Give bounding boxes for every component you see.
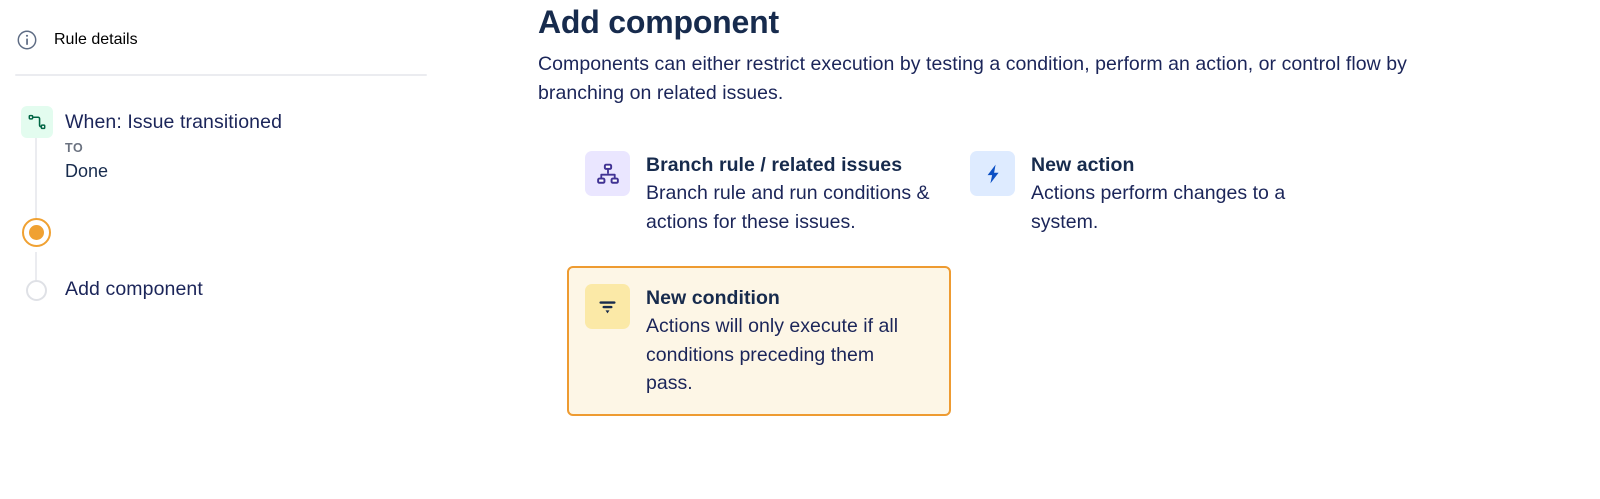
hierarchy-branch-icon-wrap xyxy=(585,151,630,196)
filter-funnel-icon-wrap xyxy=(585,284,630,329)
option-new-condition[interactable]: New condition Actions will only execute … xyxy=(567,266,951,416)
option-description: Actions will only execute if all conditi… xyxy=(646,312,918,398)
add-component-screen: Rule details When: Issue transitioned TO… xyxy=(0,0,1600,499)
selected-step-node-icon[interactable] xyxy=(22,218,51,247)
option-title: Branch rule / related issues xyxy=(646,152,936,178)
panel-description: Components can either restrict execution… xyxy=(538,50,1468,108)
issue-transition-icon xyxy=(26,111,48,133)
trigger-field-value: Done xyxy=(65,158,445,184)
option-description: Branch rule and run conditions & actions… xyxy=(646,179,936,236)
option-new-action-body: New action Actions perform changes to a … xyxy=(1031,151,1321,236)
option-branch-rule-body: Branch rule / related issues Branch rule… xyxy=(646,151,936,236)
page-title: Add component xyxy=(538,2,779,42)
add-component-panel: Add component Components can either rest… xyxy=(538,0,1588,499)
option-new-action[interactable]: New action Actions perform changes to a … xyxy=(952,133,1336,254)
option-title: New condition xyxy=(646,285,918,311)
trigger-badge[interactable] xyxy=(21,106,53,138)
timeline-connector-top xyxy=(35,138,37,230)
rail-divider xyxy=(15,74,427,76)
filter-funnel-icon xyxy=(595,294,620,319)
option-title: New action xyxy=(1031,152,1321,178)
timeline-connector-bottom xyxy=(35,252,37,282)
option-branch-rule[interactable]: Branch rule / related issues Branch rule… xyxy=(567,133,951,254)
rule-details-item[interactable]: Rule details xyxy=(16,24,138,56)
lightning-bolt-icon xyxy=(981,162,1005,186)
component-options: Branch rule / related issues Branch rule… xyxy=(567,133,1567,416)
rule-builder-rail: Rule details When: Issue transitioned TO… xyxy=(0,0,500,499)
trigger-title: When: Issue transitioned xyxy=(65,108,445,136)
info-circle-icon xyxy=(16,29,38,51)
trigger-summary[interactable]: When: Issue transitioned TO Done xyxy=(65,108,445,184)
hierarchy-branch-icon xyxy=(595,161,621,187)
rule-details-label: Rule details xyxy=(54,31,138,49)
trigger-field-label: TO xyxy=(65,140,445,156)
component-options-row: Branch rule / related issues Branch rule… xyxy=(567,133,1567,254)
option-description: Actions perform changes to a system. xyxy=(1031,179,1321,236)
add-component-label[interactable]: Add component xyxy=(65,278,203,301)
lightning-bolt-icon-wrap xyxy=(970,151,1015,196)
option-new-condition-body: New condition Actions will only execute … xyxy=(646,284,918,398)
empty-step-node-icon[interactable] xyxy=(26,280,47,301)
